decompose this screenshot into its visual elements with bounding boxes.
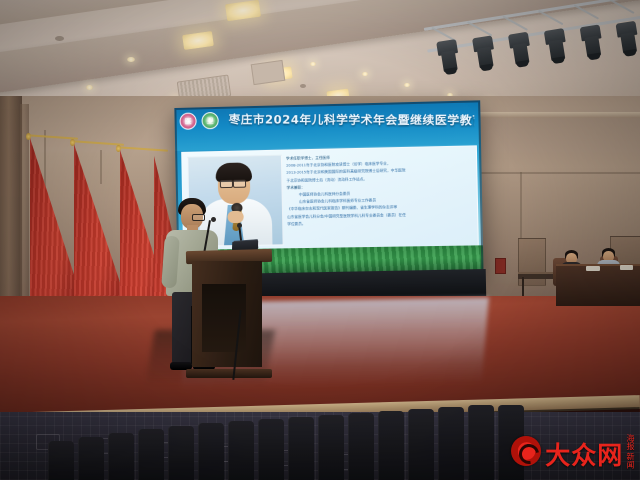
watermark-logo-icon <box>511 436 541 466</box>
portrait-hand <box>227 211 243 223</box>
moving-head-light <box>614 20 640 57</box>
watermark-text: 大众网 海报 新闻 <box>545 434 634 469</box>
seat <box>438 407 464 480</box>
lectern-base <box>186 369 272 378</box>
seat <box>168 426 194 480</box>
truss-brace <box>502 16 527 31</box>
ceiling-downlight <box>127 57 135 62</box>
ceiling-downlight <box>404 83 410 87</box>
seat <box>228 421 254 480</box>
event-banner-title: 枣庄市2024年儿科学学术年会暨继续医学教育学习班 <box>229 111 475 128</box>
seat <box>198 423 224 480</box>
flag-rod <box>118 146 168 151</box>
moving-head-light <box>470 35 499 72</box>
seat <box>378 411 404 480</box>
screenshot-root: 医 卫 枣庄市2024年儿科学学术年会暨继续医学教育学习班 <box>0 0 640 480</box>
seat <box>288 417 314 480</box>
seat <box>318 415 344 480</box>
lectern-microphone-head <box>237 223 242 228</box>
emblem-glyph: 医 <box>185 116 192 126</box>
ceiling-downlight <box>310 62 316 66</box>
seat <box>348 413 374 480</box>
ceiling-downlight <box>86 85 93 90</box>
ceiling-smoke-detector <box>55 36 64 41</box>
audience-seating <box>0 405 550 480</box>
moving-head-light <box>578 24 607 61</box>
moving-head-light <box>434 39 463 76</box>
seat <box>408 409 434 480</box>
lectern-microphone-head <box>211 217 216 222</box>
ceiling-downlight <box>362 72 368 76</box>
speaker-glasses-icon <box>192 214 205 221</box>
seat <box>48 441 74 480</box>
truss-brace <box>609 0 634 14</box>
seat <box>468 405 494 480</box>
truss-brace <box>467 21 492 36</box>
lectern <box>186 250 272 372</box>
watermark-main-text: 大众网 <box>545 443 623 468</box>
ceiling-smoke-detector <box>300 84 306 88</box>
truss-brace <box>574 4 599 19</box>
seat <box>108 433 134 480</box>
moving-head-light <box>506 31 535 68</box>
portrait-glasses-right-icon <box>233 180 246 188</box>
seat <box>78 437 104 480</box>
watermark: 大众网 海报 新闻 <box>511 430 634 472</box>
portrait-glasses-left-icon <box>220 180 233 188</box>
truss-brace <box>538 10 563 25</box>
seat <box>258 419 284 480</box>
fire-alarm-box <box>495 258 506 274</box>
table-papers <box>586 266 600 271</box>
moving-head-light <box>542 28 571 65</box>
table-papers <box>620 265 633 270</box>
slide-body-text: 学术任职学博士，主任医师 2008-2011年于北京协和医院攻读博士（访学）临床… <box>286 152 473 247</box>
watermark-sub-text: 海报 新闻 <box>625 434 634 469</box>
seat <box>138 429 164 480</box>
emblem-glyph: 卫 <box>207 116 214 126</box>
ceiling-access-hatch <box>251 60 286 85</box>
